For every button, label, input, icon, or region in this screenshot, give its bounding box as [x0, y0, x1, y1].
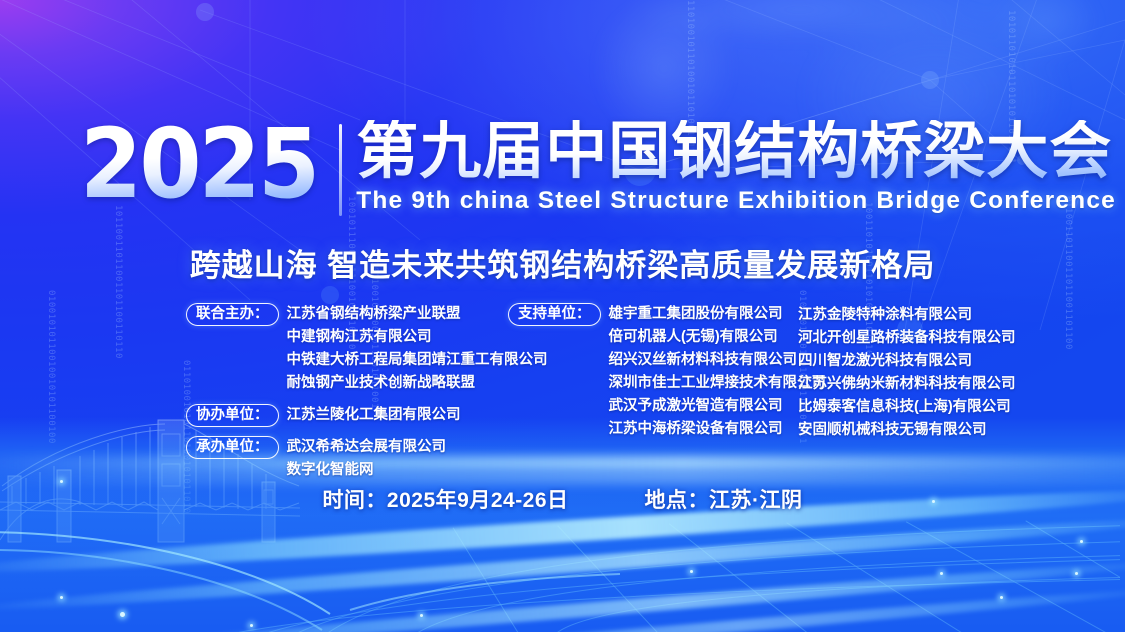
sponsor-label-host-unit: 承办单位： [186, 436, 279, 459]
sponsor-org-list: 江苏兰陵化工集团有限公司 [287, 404, 461, 427]
year-2025: 2025 [80, 120, 317, 208]
event-location: 地点：江苏·江阴 [645, 484, 803, 514]
sponsor-org: 倍可机器人(无锡)有限公司 [609, 326, 827, 349]
sponsor-label-co-organizers: 联合主办： [186, 303, 279, 326]
sponsor-label-supporting-unit: 协办单位： [186, 404, 279, 427]
sponsor-column-right: 江苏金陵特种涂料有限公司 河北开创星路桥装备科技有限公司 四川智龙激光科技有限公… [798, 303, 1028, 442]
sponsor-group: 支持单位： 雄宇重工集团股份有限公司 倍可机器人(无锡)有限公司 绍兴汉丝新材料… [508, 303, 798, 441]
sponsor-org: 深圳市佳士工业焊接技术有限公司 [609, 372, 827, 395]
sponsor-org-list: 雄宇重工集团股份有限公司 倍可机器人(无锡)有限公司 绍兴汉丝新材料科技有限公司… [609, 303, 827, 441]
conference-banner: 01001010110010010101100100 1011001101100… [0, 0, 1125, 632]
sponsor-org: 江苏兰陵化工集团有限公司 [287, 404, 461, 427]
title-text-stack: 第九届中国钢结构桥梁大会 The 9th china Steel Structu… [356, 120, 1116, 215]
sponsor-group: 协办单位： 江苏兰陵化工集团有限公司 [186, 404, 508, 427]
title-block: 2025 第九届中国钢结构桥梁大会 The 9th china Steel St… [80, 120, 1116, 216]
sponsor-org: 雄宇重工集团股份有限公司 [609, 303, 827, 326]
sponsor-org: 四川智龙激光科技有限公司 [798, 350, 1028, 373]
sponsor-org: 江苏金陵特种涂料有限公司 [798, 304, 1028, 327]
sponsor-org: 绍兴汉丝新材料科技有限公司 [609, 349, 827, 372]
sponsor-section: 联合主办： 江苏省钢结构桥梁产业联盟 中建钢构江苏有限公司 中铁建大桥工程局集团… [186, 303, 1028, 482]
sponsor-org: 江苏中海桥梁设备有限公司 [609, 418, 827, 441]
sponsor-group: 承办单位： 武汉希希达会展有限公司 数字化智能网 [186, 436, 508, 482]
sponsor-column-left: 联合主办： 江苏省钢结构桥梁产业联盟 中建钢构江苏有限公司 中铁建大桥工程局集团… [186, 303, 508, 482]
event-details: 时间：2025年9月24-26日 地点：江苏·江阴 [0, 484, 1125, 514]
sponsor-label-sponsors: 支持单位： [508, 303, 601, 326]
conference-title-english: The 9th china Steel Structure Exhibition… [356, 187, 1116, 215]
sponsor-org: 安固顺机械科技无锡有限公司 [798, 419, 1028, 442]
banner-content: 2025 第九届中国钢结构桥梁大会 The 9th china Steel St… [0, 0, 1125, 632]
sponsor-org: 数字化智能网 [287, 459, 447, 482]
sponsor-org: 武汉予成激光智造有限公司 [609, 395, 827, 418]
sponsor-org: 武汉希希达会展有限公司 [287, 436, 447, 459]
title-divider [339, 124, 342, 216]
sponsor-group: 联合主办： 江苏省钢结构桥梁产业联盟 中建钢构江苏有限公司 中铁建大桥工程局集团… [186, 303, 508, 395]
conference-slogan: 跨越山海 智造未来共筑钢结构桥梁高质量发展新格局 [190, 240, 936, 285]
event-date: 时间：2025年9月24-26日 [322, 484, 568, 514]
conference-title-chinese: 第九届中国钢结构桥梁大会 [356, 120, 1116, 183]
sponsor-org: 比姆泰客信息科技(上海)有限公司 [798, 396, 1028, 419]
sponsor-org: 江苏兴佛纳米新材料科技有限公司 [798, 373, 1028, 396]
sponsor-column-middle: 支持单位： 雄宇重工集团股份有限公司 倍可机器人(无锡)有限公司 绍兴汉丝新材料… [508, 303, 798, 441]
sponsor-org: 河北开创星路桥装备科技有限公司 [798, 327, 1028, 350]
sponsor-org-list: 武汉希希达会展有限公司 数字化智能网 [287, 436, 447, 482]
